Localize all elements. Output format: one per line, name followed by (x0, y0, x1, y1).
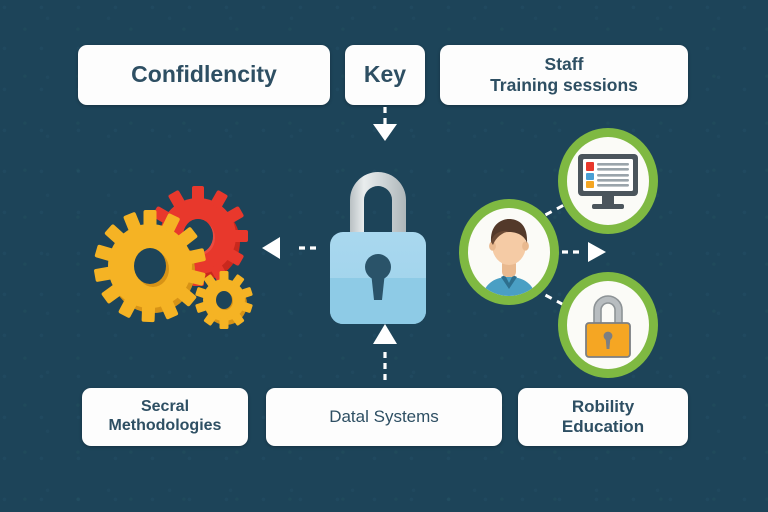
label-text-methodologies: Methodologies (109, 417, 222, 436)
screen-icon-blue (586, 173, 594, 180)
label-text-robility-group: Robility Education (562, 397, 644, 437)
label-text-education: Education (562, 417, 644, 437)
user-avatar-icon[interactable] (457, 197, 561, 307)
label-text-confidentiality: Confidlencity (131, 61, 277, 88)
label-box-robility-education[interactable]: Robility Education (518, 388, 688, 446)
label-box-staff-training[interactable]: Staff Training sessions (440, 45, 688, 105)
label-text-staff: Staff (490, 54, 638, 75)
label-text-datal-systems: Datal Systems (329, 407, 439, 427)
label-text-secral-group: Secral Methodologies (109, 398, 222, 436)
arrow-key-to-lock-icon (360, 105, 410, 150)
padlock-icon (318, 148, 438, 326)
label-box-key[interactable]: Key (345, 45, 425, 105)
diagram-canvas: Confidlencity Key Staff Training session… (0, 0, 768, 512)
label-text-key: Key (364, 61, 406, 88)
gears-icon (88, 178, 268, 333)
label-box-secral-methodologies[interactable]: Secral Methodologies (82, 388, 248, 446)
label-text-secral: Secral (109, 398, 222, 417)
arrow-person-right-icon (560, 233, 612, 271)
label-box-confidentiality[interactable]: Confidlencity (78, 45, 330, 105)
label-box-datal-systems[interactable]: Datal Systems (266, 388, 502, 446)
padlock-small-icon[interactable] (556, 270, 660, 380)
arrow-systems-to-lock-icon (360, 320, 410, 382)
label-text-staff-training-group: Staff Training sessions (490, 54, 638, 95)
label-text-robility: Robility (562, 397, 644, 417)
computer-monitor-icon[interactable] (556, 126, 660, 236)
screen-icon-orange (586, 181, 594, 188)
screen-icon-red (586, 162, 594, 171)
label-text-training-sessions: Training sessions (490, 75, 638, 96)
